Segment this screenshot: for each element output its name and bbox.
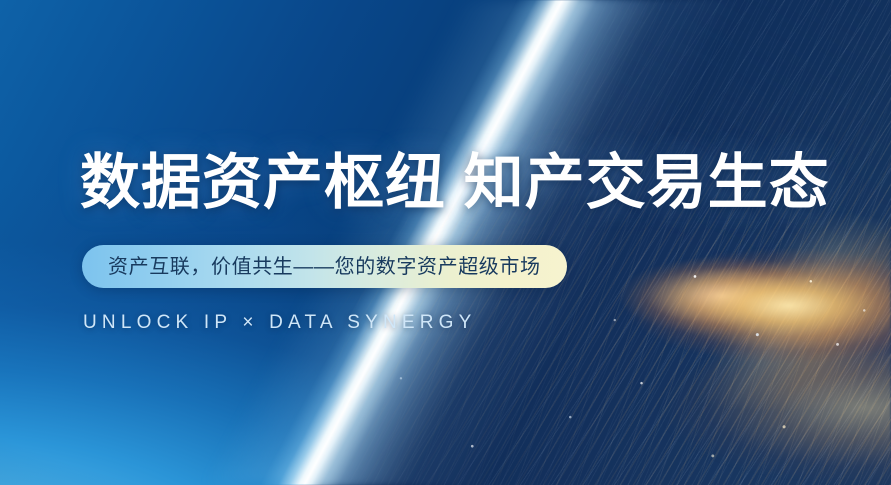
hero-banner: 数据资产枢纽 知产交易生态 资产互联，价值共生——您的数字资产超级市场 UNLO… — [0, 0, 891, 485]
english-tagline: UNLOCK IP × DATA SYNERGY — [83, 310, 477, 336]
subtitle-text: 资产互联，价值共生——您的数字资产超级市场 — [108, 257, 541, 277]
page-title: 数据资产枢纽 知产交易生态 — [80, 146, 830, 220]
banner-content: 数据资产枢纽 知产交易生态 资产互联，价值共生——您的数字资产超级市场 UNLO… — [0, 0, 891, 485]
subtitle-pill: 资产互联，价值共生——您的数字资产超级市场 — [82, 245, 567, 288]
